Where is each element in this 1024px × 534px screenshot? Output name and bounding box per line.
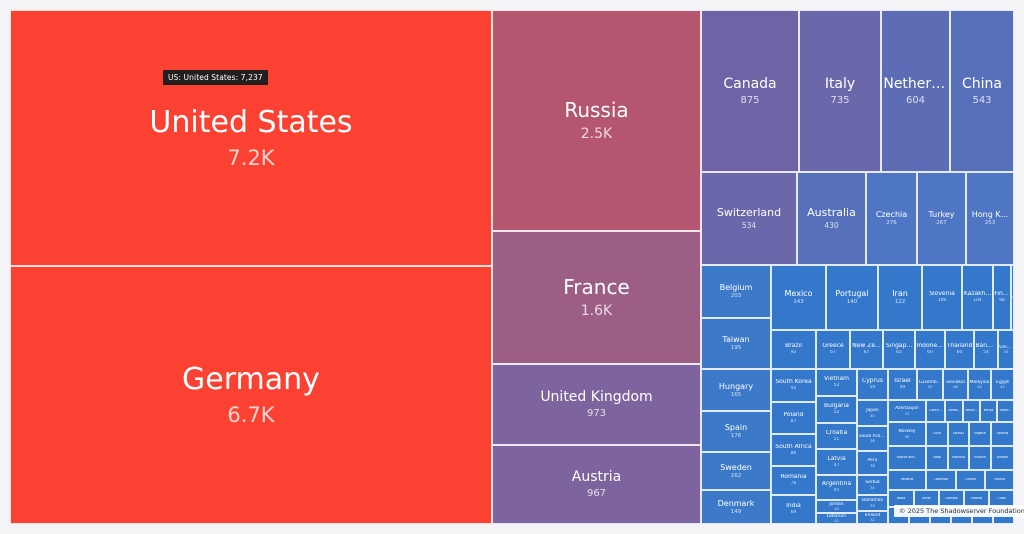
- tile-value: 604: [906, 95, 925, 107]
- tile-value: 30: [905, 435, 909, 439]
- tile-value: 87: [791, 419, 797, 424]
- treemap-tile[interactable]: Slovenia109: [922, 265, 962, 330]
- tile-label: Russia: [564, 99, 628, 122]
- treemap-tile[interactable]: Iran122: [878, 265, 922, 330]
- tile-value: 276: [886, 220, 897, 226]
- treemap-tile[interactable]: North...26: [997, 400, 1014, 422]
- tile-label: Nigeria: [974, 432, 985, 436]
- tile-value: 42: [834, 519, 838, 523]
- tile-value: 7.2K: [227, 146, 274, 170]
- treemap-tile[interactable]: Russia2.5K: [492, 10, 701, 231]
- treemap-tile[interactable]: Romania76: [771, 466, 816, 495]
- tile-value: 140: [847, 299, 858, 305]
- tile-value: 43: [834, 507, 838, 511]
- tile-label: Panama: [901, 478, 914, 482]
- treemap-tile[interactable]: Uzbek...29: [945, 400, 963, 422]
- treemap-tile[interactable]: Singap...65: [883, 330, 915, 369]
- treemap-tile[interactable]: Mexico143: [771, 265, 826, 330]
- tile-label: Indonesia: [917, 343, 944, 350]
- tile-value: 973: [587, 408, 606, 420]
- tile-value: 195: [731, 345, 742, 351]
- tile-value: 165: [731, 392, 742, 398]
- tile-label: Spain: [725, 423, 747, 432]
- tile-label: Albania: [971, 497, 983, 501]
- treemap-tile[interactable]: Croatia51: [816, 423, 857, 449]
- treemap-tile[interactable]: Colombia16: [926, 470, 956, 490]
- treemap-tile[interactable]: Hong K...253: [966, 172, 1014, 265]
- tile-label: Iran: [892, 289, 908, 298]
- treemap-tile[interactable]: Argentina45: [816, 475, 857, 500]
- treemap-tile[interactable]: Italy735: [799, 10, 881, 172]
- treemap-tile[interactable]: Poland87: [771, 402, 816, 434]
- treemap-tile[interactable]: Netherl...604: [881, 10, 950, 172]
- tile-value: 36: [870, 464, 874, 468]
- tile-value: 162: [731, 473, 742, 479]
- tile-label: Qatar: [933, 456, 942, 460]
- tile-label: Oman: [922, 497, 932, 501]
- tile-label: Netherl...: [883, 76, 947, 92]
- treemap-tile[interactable]: Japan40: [857, 400, 888, 426]
- tile-label: Finland: [994, 291, 1009, 298]
- tile-label: Romania: [780, 474, 806, 481]
- tile-label: Turkey: [928, 210, 954, 219]
- tile-value: 1.6K: [581, 303, 612, 319]
- treemap-tile[interactable]: Greece67: [816, 330, 850, 369]
- tile-label: Kazakh...: [964, 291, 991, 298]
- tile-value: 735: [830, 95, 849, 107]
- tile-label: Kenya: [984, 409, 994, 413]
- treemap-tile[interactable]: Indonesia60: [915, 330, 945, 369]
- tile-value: 31: [905, 412, 909, 416]
- tile-label: Singap...: [886, 343, 912, 350]
- tile-value: 875: [740, 95, 759, 107]
- treemap-tile[interactable]: Venez...28: [963, 400, 980, 422]
- tile-value: 60: [927, 350, 933, 355]
- treemap-tile[interactable]: Australia430: [797, 172, 866, 265]
- tile-value: 967: [587, 488, 606, 500]
- tile-label: Cyprus: [862, 378, 883, 385]
- tile-label: Brazil: [785, 343, 802, 350]
- tile-label: South Korea: [775, 379, 811, 386]
- treemap-tile[interactable]: Canada875: [701, 10, 799, 172]
- tile-label: Estonia: [997, 432, 1009, 436]
- tile-value: 52: [834, 410, 840, 415]
- tile-label: Australia: [807, 207, 856, 220]
- tile-label: Taiwan: [722, 335, 749, 344]
- tile-value: 122: [895, 299, 906, 305]
- treemap-tile[interactable]: Chile25: [926, 422, 948, 446]
- tile-value: 42: [1000, 385, 1004, 389]
- tile-value: 53: [1004, 350, 1008, 354]
- treemap-tile[interactable]: Jordan43: [816, 500, 857, 513]
- tile-label: Kuwait: [997, 456, 1008, 460]
- treemap-tile[interactable]: Spain176: [701, 411, 771, 452]
- tile-label: Israel: [894, 378, 910, 385]
- tile-value: 54: [983, 350, 989, 355]
- tile-label: Cuba: [997, 497, 1005, 501]
- treemap-tile[interactable]: Iceland19: [969, 446, 991, 470]
- tile-label: Sweden: [720, 463, 752, 472]
- tile-label: Switzerland: [717, 207, 781, 220]
- tile-label: Venez...: [965, 409, 978, 413]
- tile-value: 176: [731, 433, 742, 439]
- tile-label: Ukraine: [1012, 296, 1013, 300]
- tile-value: 98: [999, 298, 1005, 303]
- tile-value: 86: [791, 451, 797, 456]
- treemap-tile[interactable]: Malaysia44: [968, 369, 991, 400]
- tile-label: United States: [149, 106, 352, 141]
- treemap-tile[interactable]: Serbia34: [857, 475, 888, 495]
- tile-label: Colombia: [934, 478, 949, 482]
- treemap-tile[interactable]: Panama17: [888, 470, 926, 490]
- tile-label: Czech...: [929, 409, 942, 413]
- tile-label: Morocco: [952, 456, 965, 460]
- treemap-tile[interactable]: Norway30: [888, 422, 926, 446]
- tile-label: United Kingdom: [540, 389, 652, 405]
- tile-value: 6.7K: [227, 403, 274, 427]
- tile-value: 67: [830, 350, 836, 355]
- treemap-tile[interactable]: Kuwait18: [991, 446, 1014, 470]
- tile-label: Italy: [825, 76, 855, 92]
- tile-value: 267: [936, 220, 947, 226]
- tile-label: Iceland: [974, 456, 986, 460]
- tile-value: 47: [928, 385, 932, 389]
- tile-label: Belgium: [720, 283, 753, 292]
- tile-value: 149: [731, 509, 742, 515]
- tile-value: 44: [977, 385, 981, 389]
- treemap-tile[interactable]: Tunisia14: [985, 470, 1014, 490]
- tile-value: 51: [834, 437, 840, 442]
- treemap-tile[interactable]: Portugal140: [826, 265, 878, 330]
- tile-label: Germany: [182, 363, 320, 398]
- treemap-tile[interactable]: Azerbaijan31: [888, 400, 926, 422]
- treemap-tile[interactable]: Kazakh...104: [962, 265, 993, 330]
- tile-value: 32: [870, 518, 874, 522]
- tile-value: 60: [957, 350, 963, 355]
- tile-value: 49: [900, 385, 906, 390]
- treemap-tile[interactable]: Israel49: [888, 369, 917, 400]
- tile-label: Tunisia: [994, 478, 1005, 482]
- treemap-tile[interactable]: China543: [950, 10, 1014, 172]
- treemap-tile[interactable]: Switzerland534: [701, 172, 797, 265]
- tile-value: 33: [870, 504, 874, 508]
- tile-label: France: [563, 276, 630, 299]
- tile-value: 430: [824, 222, 838, 231]
- treemap-tile[interactable]: France1.6K: [492, 231, 701, 364]
- treemap-tile[interactable]: Bahamas33: [857, 495, 888, 511]
- treemap-tile[interactable]: Hungary165: [701, 369, 771, 411]
- tile-value: 2.5K: [581, 126, 612, 142]
- tile-label: Bangla...: [975, 343, 996, 350]
- treemap-tile[interactable]: Nigeria23: [969, 422, 991, 446]
- tile-label: India: [786, 503, 801, 510]
- tile-label: Vietnam: [824, 376, 849, 383]
- tile-value: 69: [791, 510, 797, 515]
- tile-value: 203: [731, 293, 742, 299]
- tile-value: 92: [791, 386, 797, 391]
- tile-label: Latvia: [827, 456, 845, 463]
- tile-label: Bosnia and...: [897, 456, 918, 460]
- tile-label: China: [962, 76, 1002, 92]
- tile-label: South Africa: [775, 444, 811, 451]
- treemap-tile[interactable]: Cyprus50: [857, 369, 888, 400]
- tile-label: Slovenia: [929, 291, 955, 298]
- tile-value: 67: [864, 350, 870, 355]
- tile-label: Latvia2: [953, 432, 965, 436]
- tile-value: 50: [870, 385, 876, 390]
- tile-label: Austria: [572, 469, 621, 485]
- treemap-tile[interactable]: Denmark149: [701, 490, 771, 524]
- tile-label: Portugal: [835, 289, 868, 298]
- treemap-tile[interactable]: Taiwan195: [701, 318, 771, 369]
- treemap-tile[interactable]: Qatar21: [926, 446, 948, 470]
- treemap-tile[interactable]: Sweden162: [701, 452, 771, 490]
- treemap-tile[interactable]: United...53: [998, 330, 1014, 369]
- treemap-tile[interactable]: United States7.2K: [10, 10, 492, 266]
- tile-label: New Ze...: [852, 343, 881, 350]
- treemap-tile[interactable]: Kenya27: [980, 400, 997, 422]
- treemap-tile[interactable]: Czechia276: [866, 172, 917, 265]
- treemap-tile[interactable]: Brazil92: [771, 330, 816, 369]
- tile-label: Hong K...: [972, 210, 1008, 219]
- tile-label: Greece: [822, 343, 843, 350]
- tile-value: 543: [972, 95, 991, 107]
- tile-label: Georgia: [945, 497, 958, 501]
- treemap-tile[interactable]: Germany6.7K: [10, 266, 492, 524]
- treemap-tile[interactable]: South Africa86: [771, 434, 816, 466]
- tile-label: Thailand: [947, 343, 973, 350]
- treemap-tile[interactable]: Austria967: [492, 445, 701, 524]
- tile-label: Bulgaria: [824, 403, 849, 410]
- treemap-tile[interactable]: United Kingdom973: [492, 364, 701, 445]
- tile-value: 534: [742, 222, 756, 231]
- tile-label: Czechia: [876, 210, 907, 219]
- tooltip: US: United States: 7,237: [163, 70, 268, 85]
- tile-value: 38: [870, 439, 874, 443]
- tile-value: 65: [896, 350, 902, 355]
- treemap-tile[interactable]: Latvia47: [816, 449, 857, 475]
- treemap-tile[interactable]: Lebanon42: [816, 513, 857, 524]
- tile-value: 253: [985, 220, 996, 226]
- tile-value: 45: [834, 488, 840, 493]
- treemap-tile[interactable]: Bulgaria52: [816, 396, 857, 423]
- treemap-tile[interactable]: Estonia22: [991, 422, 1014, 446]
- tile-label: Chile: [933, 432, 941, 436]
- tile-label: Hungary: [719, 382, 753, 391]
- treemap-tile[interactable]: India69: [771, 495, 816, 524]
- tile-label: Canada: [723, 76, 776, 92]
- tile-value: 76: [791, 481, 797, 486]
- treemap-chart: United States7.2KGermany6.7KRussia2.5KFr…: [0, 0, 1024, 534]
- treemap-tile[interactable]: Egypt42: [991, 369, 1014, 400]
- tile-value: 143: [793, 299, 804, 305]
- treemap-tile[interactable]: Belgium203: [701, 265, 771, 318]
- treemap-tile[interactable]: Peru36: [857, 451, 888, 475]
- tile-label: Ghana: [965, 478, 975, 482]
- tile-value: 52: [834, 383, 840, 388]
- treemap-tile[interactable]: Finland98: [993, 265, 1011, 330]
- treemap-tile[interactable]: Luxemb...47: [917, 369, 943, 400]
- copyright-credit: © 2025 The Shadowserver Foundation: [894, 505, 1024, 517]
- treemap-tile[interactable]: Latvia224: [948, 422, 969, 446]
- tile-value: 34: [870, 486, 874, 490]
- treemap-tile[interactable]: Ghana15: [956, 470, 985, 490]
- treemap-tile[interactable]: Slovakia46: [943, 369, 968, 400]
- treemap-tile[interactable]: Bosnia and...28: [888, 446, 926, 470]
- treemap-tile[interactable]: Thailand60: [945, 330, 974, 369]
- tile-label: Uzbek...: [948, 409, 961, 413]
- treemap-tile[interactable]: Bangla...54: [974, 330, 998, 369]
- tile-value: 46: [953, 385, 957, 389]
- treemap-tile[interactable]: Czech...30: [926, 400, 945, 422]
- treemap-tile[interactable]: Saudi Arabia38: [857, 426, 888, 451]
- treemap-tile[interactable]: Turkey267: [917, 172, 966, 265]
- tile-label: Mexico: [785, 289, 813, 298]
- tile-label: Croatia: [826, 430, 848, 437]
- treemap-tile[interactable]: Morocco20: [948, 446, 969, 470]
- treemap-tile[interactable]: New Ze...67: [850, 330, 883, 369]
- treemap-tile[interactable]: Ukraine95: [1011, 265, 1014, 330]
- treemap-tile[interactable]: South Korea92: [771, 369, 816, 402]
- treemap-tile[interactable]: Vietnam52: [816, 369, 857, 396]
- tile-value: 92: [791, 350, 797, 355]
- tile-label: Argentina: [822, 481, 851, 488]
- tile-label: Denmark: [718, 499, 755, 508]
- tile-value: 104: [973, 298, 982, 303]
- tile-label: North...: [1000, 409, 1012, 413]
- treemap-tile[interactable]: Ireland32: [857, 511, 888, 524]
- tile-value: 40: [870, 414, 874, 418]
- tile-label: Malta: [897, 497, 906, 501]
- tile-value: 109: [938, 298, 947, 303]
- tile-label: Poland: [783, 412, 803, 419]
- tile-value: 47: [834, 463, 840, 468]
